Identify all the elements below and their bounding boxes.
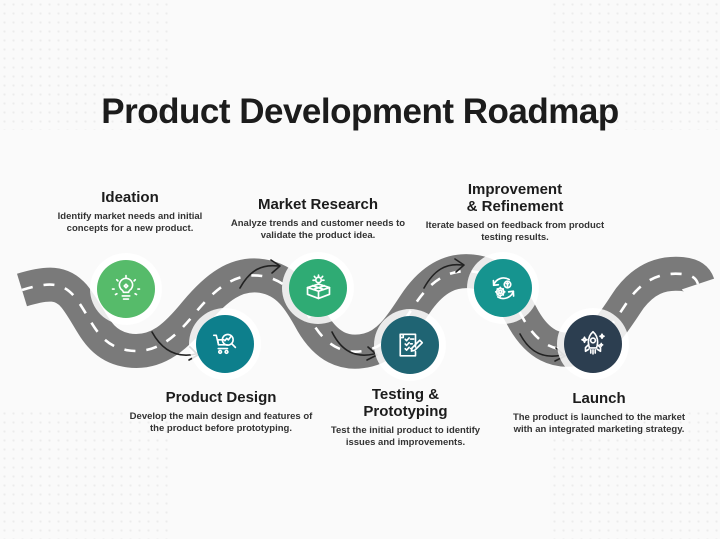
step-node-testing-prototyping[interactable] xyxy=(381,316,439,374)
step-title-improvement-refinement: Improvement & Refinement xyxy=(420,182,610,216)
step-node-ideation[interactable] xyxy=(97,260,155,318)
checklist-pencil-icon xyxy=(395,330,425,360)
step-title-market-research: Market Research xyxy=(228,197,408,214)
gears-cycle-icon xyxy=(488,273,519,304)
package-idea-icon xyxy=(303,273,334,304)
step-caption-product-design: Product Design Develop the main design a… xyxy=(126,390,316,435)
step-description-product-design: Develop the main design and features of … xyxy=(126,411,316,435)
step-node-launch[interactable] xyxy=(564,315,622,373)
step-title-product-design: Product Design xyxy=(126,390,316,407)
step-title-testing-prototyping: Testing & Prototyping xyxy=(318,387,493,421)
rocket-icon xyxy=(578,329,608,359)
step-caption-market-research: Market Research Analyze trends and custo… xyxy=(228,197,408,242)
step-description-improvement-refinement: Iterate based on feedback from product t… xyxy=(420,220,610,244)
step-caption-improvement-refinement: Improvement & Refinement Iterate based o… xyxy=(420,182,610,244)
step-caption-testing-prototyping: Testing & Prototyping Test the initial p… xyxy=(318,387,493,449)
step-node-product-design[interactable] xyxy=(196,315,254,373)
cart-analytics-icon xyxy=(210,329,240,359)
step-description-ideation: Identify market needs and initial concep… xyxy=(40,211,220,235)
step-caption-ideation: Ideation Identify market needs and initi… xyxy=(40,190,220,235)
step-title-launch: Launch xyxy=(504,391,694,408)
step-node-improvement-refinement[interactable] xyxy=(474,259,532,317)
step-node-market-research[interactable] xyxy=(289,259,347,317)
step-title-ideation: Ideation xyxy=(40,190,220,207)
step-caption-launch: Launch The product is launched to the ma… xyxy=(504,391,694,436)
step-description-testing-prototyping: Test the initial product to identify iss… xyxy=(318,425,493,449)
roadmap-infographic: Product Development Roadmap xyxy=(0,0,720,539)
step-description-launch: The product is launched to the market wi… xyxy=(504,412,694,436)
lightbulb-icon xyxy=(111,274,141,304)
step-description-market-research: Analyze trends and customer needs to val… xyxy=(228,218,408,242)
